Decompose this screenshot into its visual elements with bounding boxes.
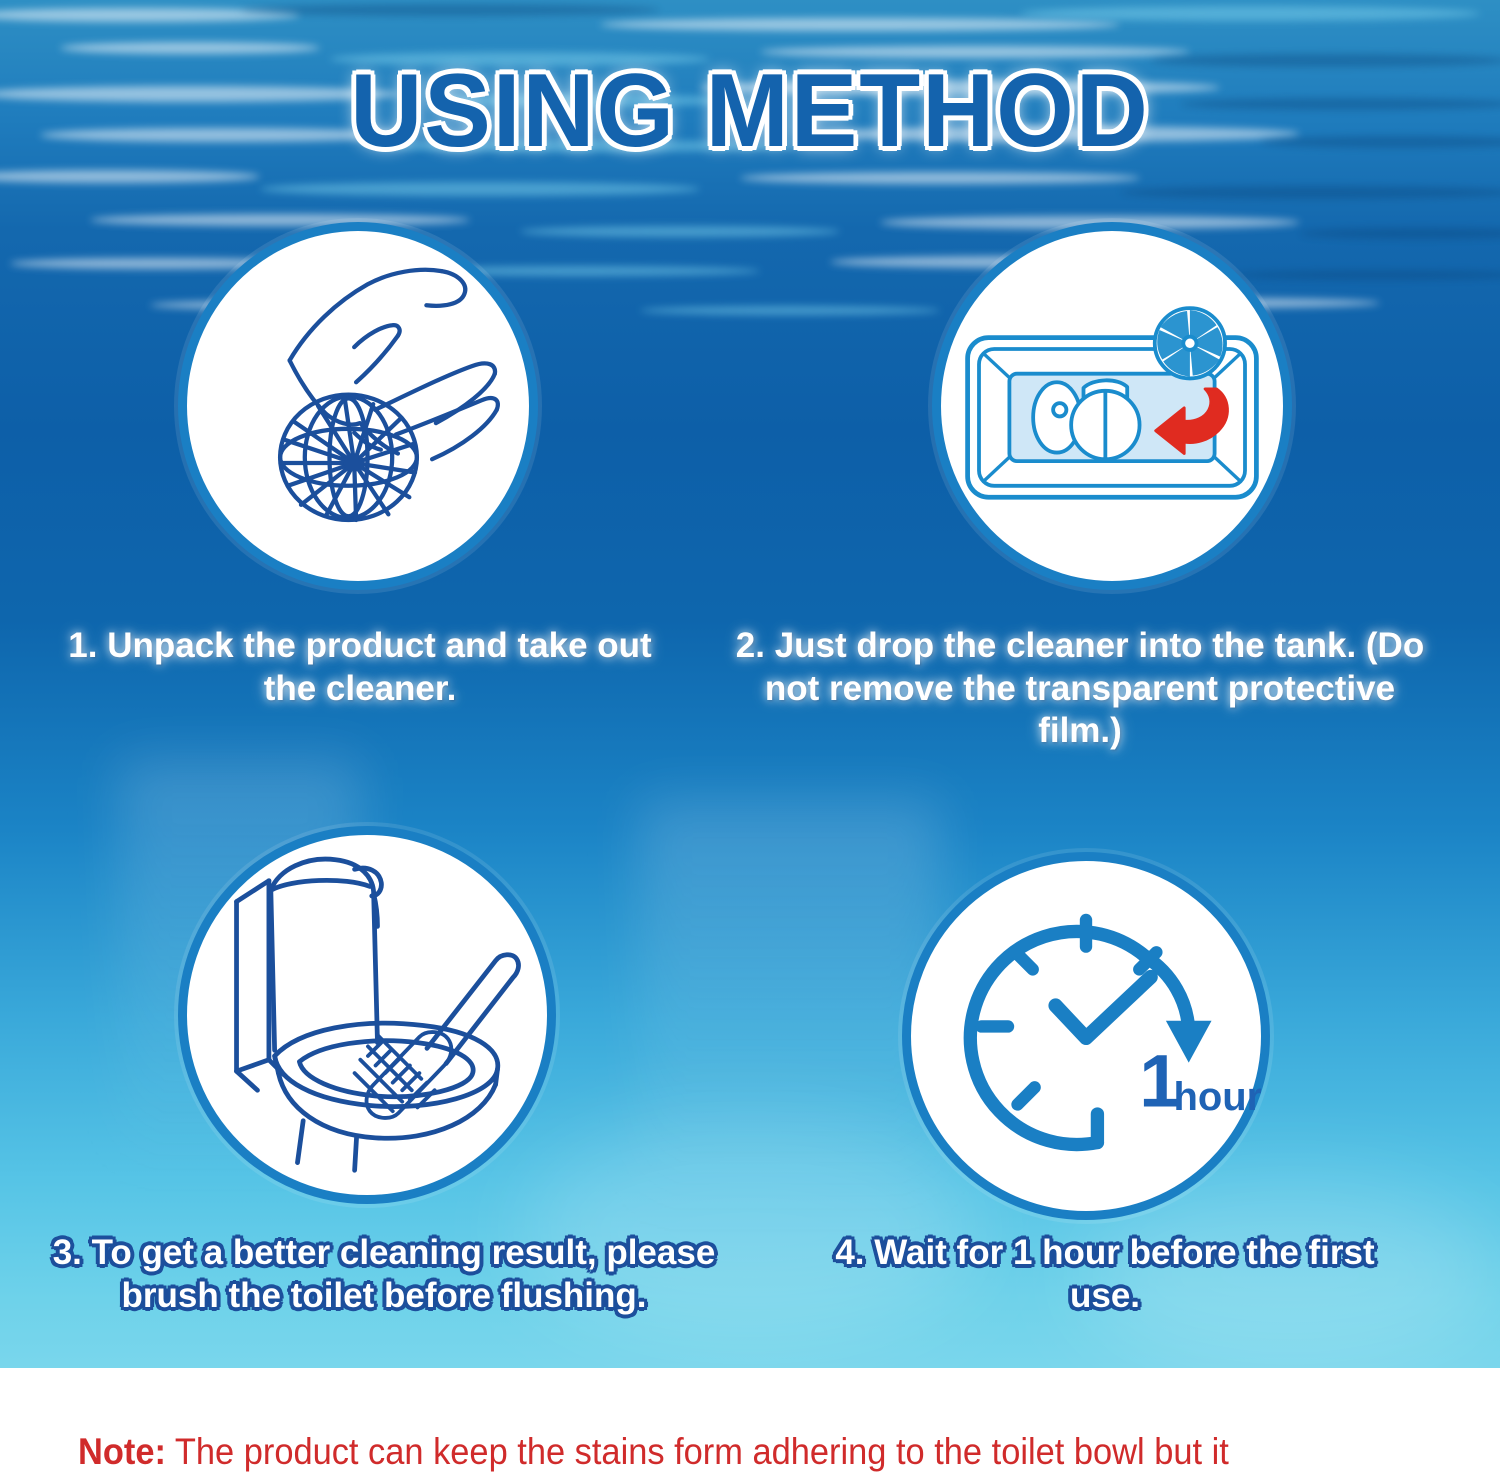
step-2-caption: 2. Just drop the cleaner into the tank. … (720, 625, 1440, 753)
note-panel: Note: The product can keep the stains fo… (0, 1368, 1500, 1478)
infographic-page: USING METHOD (0, 0, 1500, 1478)
step-3-caption: 3. To get a better cleaning result, plea… (14, 1232, 754, 1317)
note-label: Note: (78, 1431, 166, 1472)
note-body: The product can keep the stains form adh… (78, 1431, 1229, 1478)
step-1-caption: 1. Unpack the product and take out the c… (60, 625, 660, 710)
clock-unit-label: hour (1174, 1075, 1262, 1119)
hand-unpacking-cleaner-ball-icon (187, 231, 529, 581)
toilet-with-brush-icon (187, 835, 547, 1195)
step-4-icon-circle: 1 hour (902, 852, 1270, 1220)
toilet-tank-drop-cleaner-icon (941, 231, 1283, 581)
step-2-icon-circle (932, 222, 1292, 590)
step-3-icon-circle (178, 826, 556, 1204)
note-text: Note: The product can keep the stains fo… (78, 1380, 1335, 1478)
step-1-icon-circle (178, 222, 538, 590)
page-title: USING METHOD (30, 52, 1470, 171)
step-4-caption: 4. Wait for 1 hour before the first use. (820, 1232, 1390, 1317)
clock-one-hour-icon: 1 hour (911, 861, 1261, 1211)
